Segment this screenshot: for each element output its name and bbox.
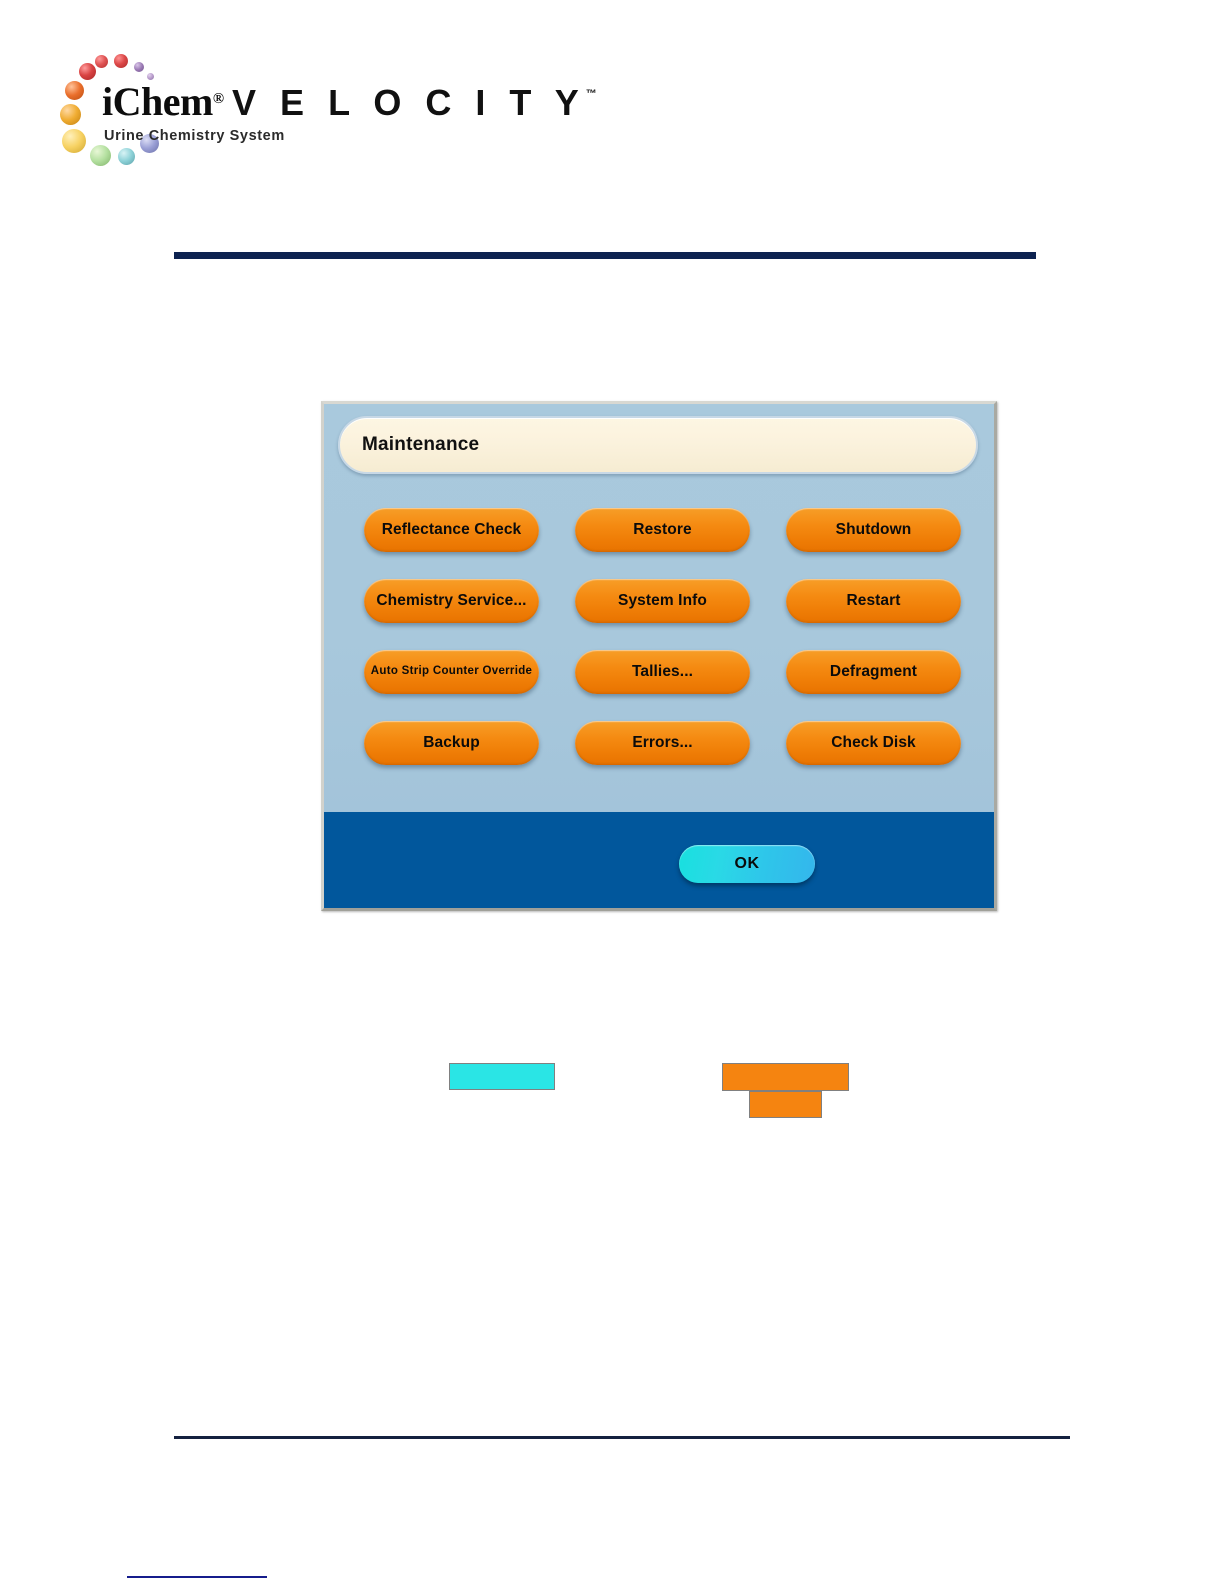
tallies-button[interactable]: Tallies... bbox=[575, 650, 750, 694]
dialog-titlebar: Maintenance bbox=[338, 416, 978, 474]
brand-tagline: Urine Chemistry System bbox=[104, 128, 432, 144]
chemistry-service-button[interactable]: Chemistry Service... bbox=[364, 579, 539, 623]
cyan-swatch bbox=[449, 1063, 555, 1090]
ok-button[interactable]: OK bbox=[679, 845, 815, 883]
dialog-footer: OK bbox=[324, 812, 994, 908]
logo-sphere-red-1 bbox=[95, 55, 108, 68]
dialog-title: Maintenance bbox=[362, 434, 479, 456]
restart-button[interactable]: Restart bbox=[786, 579, 961, 623]
restore-button[interactable]: Restore bbox=[575, 508, 750, 552]
auto-strip-counter-override-button[interactable]: Auto Strip Counter Override bbox=[364, 650, 539, 694]
defragment-button[interactable]: Defragment bbox=[786, 650, 961, 694]
logo-sphere-red-3 bbox=[79, 63, 96, 80]
brand-name-ichem: iChem bbox=[102, 79, 213, 124]
footer-divider-rule bbox=[174, 1436, 1070, 1439]
logo-sphere-teal-1 bbox=[118, 148, 135, 165]
product-logo: iChem®V E L O C I T Y™ Urine Chemistry S… bbox=[58, 52, 418, 172]
header-divider-rule bbox=[174, 252, 1036, 259]
logo-sphere-orange-1 bbox=[65, 81, 84, 100]
maintenance-button-grid: Reflectance Check Restore Shutdown Chemi… bbox=[364, 508, 964, 765]
shutdown-button[interactable]: Shutdown bbox=[786, 508, 961, 552]
check-disk-button[interactable]: Check Disk bbox=[786, 721, 961, 765]
logo-sphere-green-1 bbox=[90, 145, 111, 166]
logo-sphere-red-2 bbox=[114, 54, 128, 68]
maintenance-dialog: Maintenance Reflectance Check Restore Sh… bbox=[321, 401, 997, 911]
logo-sphere-orange-2 bbox=[60, 104, 81, 125]
logo-wordmark: iChem®V E L O C I T Y™ Urine Chemistry S… bbox=[102, 82, 432, 144]
trademark-icon: ™ bbox=[586, 88, 597, 100]
logo-sphere-yellow-1 bbox=[62, 129, 86, 153]
registered-trademark-icon: ® bbox=[213, 91, 224, 107]
brand-name-velocity: V E L O C I T Y bbox=[232, 82, 586, 123]
dialog-body: Maintenance Reflectance Check Restore Sh… bbox=[324, 404, 994, 812]
errors-button[interactable]: Errors... bbox=[575, 721, 750, 765]
orange-swatch-narrow bbox=[749, 1091, 822, 1118]
brand-lockup: iChem®V E L O C I T Y™ bbox=[102, 82, 432, 122]
orange-swatch-wide bbox=[722, 1063, 849, 1091]
reflectance-check-button[interactable]: Reflectance Check bbox=[364, 508, 539, 552]
backup-button[interactable]: Backup bbox=[364, 721, 539, 765]
system-info-button[interactable]: System Info bbox=[575, 579, 750, 623]
logo-sphere-violet-1 bbox=[134, 62, 144, 72]
footnote-separator-rule bbox=[127, 1576, 267, 1578]
